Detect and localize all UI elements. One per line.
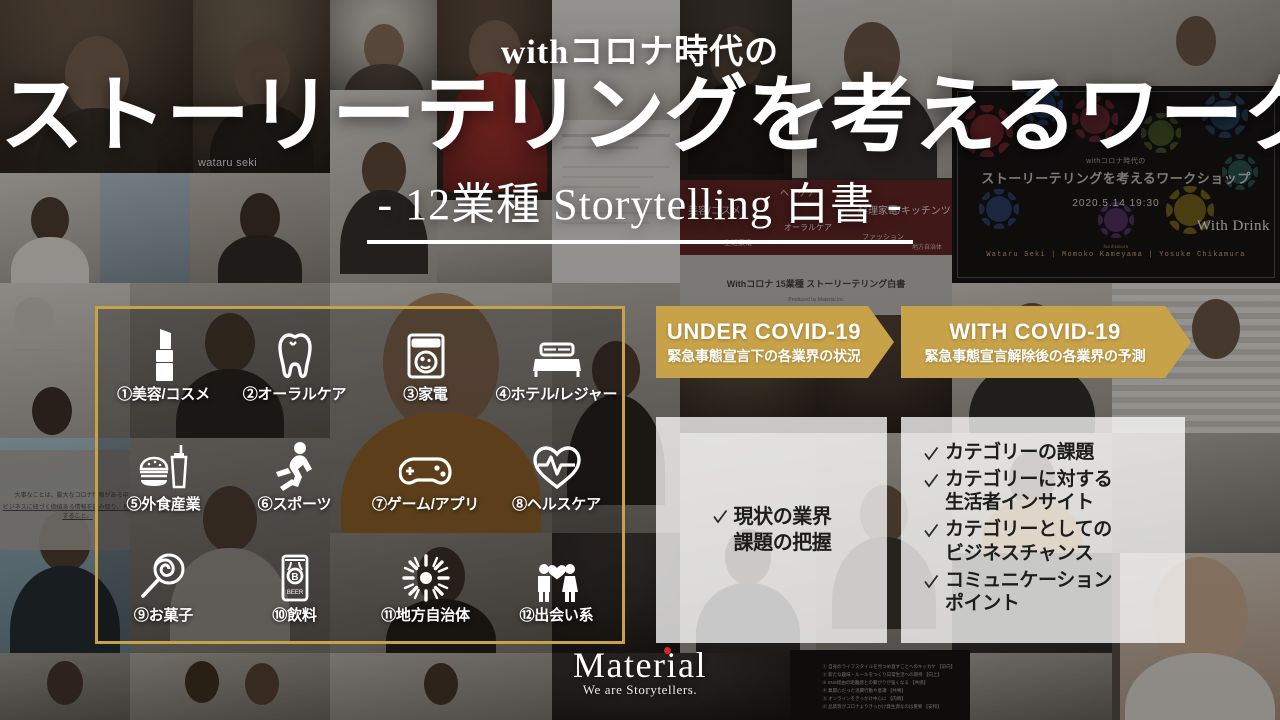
category-grid: ①美容/コスメ ②オーラルケア xyxy=(98,309,622,641)
checklist-item: コミュニケーション ポイント xyxy=(923,569,1185,617)
heart-pulse-icon xyxy=(532,435,582,491)
gamepad-icon xyxy=(399,435,453,491)
lollipop-icon xyxy=(139,546,189,602)
slide-produced-by: Produced by Material Inc xyxy=(680,297,952,303)
checklist-line: ビジネスチャンス xyxy=(945,543,1093,564)
category-item-sports[interactable]: ⑥スポーツ xyxy=(229,420,360,531)
lipstick-icon xyxy=(147,325,181,381)
banner-with-covid-19[interactable]: WITH COVID-19 緊急事態宣言解除後の各業界の予測 xyxy=(901,306,1191,378)
category-label: ⑤外食産業 xyxy=(126,493,200,514)
beer-can-icon: B BEER xyxy=(277,546,313,602)
category-item-healthcare[interactable]: ⑧ヘルスケア xyxy=(491,420,622,531)
bed-icon xyxy=(531,325,583,381)
burger-drink-icon xyxy=(138,435,190,491)
brand-logo: Material We are Storytellers. xyxy=(0,644,1280,698)
runner-icon xyxy=(272,435,318,491)
title-block: withコロナ時代の ストーリーテリングを考えるワークショップ - 12業種 S… xyxy=(0,0,1280,244)
category-item-beauty-cosme[interactable]: ①美容/コスメ xyxy=(98,309,229,420)
checklist-item: カテゴリーの課題 xyxy=(923,441,1185,465)
subtitle-underline-wrap: - 12業種 Storytelling 白書 - xyxy=(367,168,912,244)
check-icon xyxy=(712,509,728,525)
category-item-dating[interactable]: ⑫出会い系 xyxy=(491,530,622,641)
category-item-hotel-leisure[interactable]: ④ホテル/レジャー xyxy=(491,309,622,420)
svg-text:BEER: BEER xyxy=(286,590,303,596)
category-label: ⑦ゲーム/アプリ xyxy=(372,493,479,514)
slide-bullet: ⑥ 品質等がコロナよりきっかけ発生源なのは重要 【安和】 xyxy=(822,704,941,710)
page-title: ストーリーテリングを考えるワークショップ xyxy=(0,75,1280,156)
category-label: ⑧ヘルスケア xyxy=(512,493,601,514)
category-label: ⑪地方自治体 xyxy=(381,604,470,625)
checklist-item: カテゴリーに対する 生活者インサイト xyxy=(923,468,1185,516)
checklist-item: 現状の業界 課題の把握 xyxy=(712,504,832,556)
category-item-game-app[interactable]: ⑦ゲーム/アプリ xyxy=(360,420,491,531)
checklist-line: 生活者インサイト xyxy=(945,492,1094,513)
category-item-oral-care[interactable]: ②オーラルケア xyxy=(229,309,360,420)
banner-subtitle: 緊急事態宣言下の各業界の状況 xyxy=(667,346,860,366)
checklist-line: ポイント xyxy=(945,593,1019,614)
slide-caption: Withコロナ 15業種 ストーリーテリング白書 xyxy=(680,277,952,290)
category-item-local-government[interactable]: ⑪地方自治体 xyxy=(360,530,491,641)
panel-current-issues: 現状の業界 課題の把握 xyxy=(656,417,887,643)
category-label: ⑥スポーツ xyxy=(258,493,332,514)
category-item-beverage[interactable]: B BEER ⑩飲料 xyxy=(229,530,360,641)
category-label: ②オーラルケア xyxy=(243,383,347,404)
check-icon xyxy=(923,446,939,462)
banner-subtitle: 緊急事態宣言解除後の各業界の予測 xyxy=(925,346,1146,366)
checklist-text: カテゴリーの課題 xyxy=(945,441,1094,465)
checklist-line: コミュニケーション xyxy=(945,570,1112,591)
checklist-line: カテゴリーに対する xyxy=(945,469,1112,490)
checklist-text: カテゴリーに対する 生活者インサイト xyxy=(945,468,1112,516)
category-grid-panel: ①美容/コスメ ②オーラルケア xyxy=(95,306,625,644)
checklist-text: コミュニケーション ポイント xyxy=(945,569,1112,617)
category-label: ③家電 xyxy=(403,383,447,404)
brand-name: Material xyxy=(573,644,707,686)
check-icon xyxy=(923,523,939,539)
checklist-line: 課題の把握 xyxy=(734,532,832,554)
washing-machine-icon xyxy=(404,325,448,381)
category-label: ⑫出会い系 xyxy=(519,604,593,625)
banner-title: WITH COVID-19 xyxy=(949,319,1121,345)
checklist-line: カテゴリーの課題 xyxy=(945,442,1094,463)
brand-name-text: Material xyxy=(573,645,707,685)
category-label: ④ホテル/レジャー xyxy=(496,383,618,404)
page-subtitle: - 12業種 Storytelling 白書 - xyxy=(377,168,902,232)
svg-text:B: B xyxy=(291,572,298,583)
logo-dot-icon xyxy=(664,647,671,654)
panel-deliverables: カテゴリーの課題 カテゴリーに対する 生活者インサイト カテゴリーとしての ビジ… xyxy=(901,417,1185,643)
category-item-home-appliance[interactable]: ③家電 xyxy=(360,309,491,420)
banner-title: UNDER COVID-19 xyxy=(667,319,861,345)
check-icon xyxy=(923,473,939,489)
couple-heart-icon xyxy=(533,546,581,602)
checklist-item: カテゴリーとしての ビジネスチャンス xyxy=(923,518,1185,566)
category-label: ⑩飲料 xyxy=(272,604,316,625)
tooth-icon xyxy=(273,325,317,381)
category-label: ①美容/コスメ xyxy=(117,383,210,404)
workshop-title-slide: wataru seki xyxy=(0,0,1280,720)
checklist-text: カテゴリーとしての ビジネスチャンス xyxy=(945,518,1112,566)
banner-under-covid-19[interactable]: UNDER COVID-19 緊急事態宣言下の各業界の状況 xyxy=(656,306,894,378)
firework-icon xyxy=(401,546,451,602)
category-item-sweets[interactable]: ⑨お菓子 xyxy=(98,530,229,641)
checklist-line: カテゴリーとしての xyxy=(945,519,1112,540)
checklist-text: 現状の業界 課題の把握 xyxy=(734,504,832,556)
category-item-food-service[interactable]: ⑤外食産業 xyxy=(98,420,229,531)
checklist-line: 現状の業界 xyxy=(734,506,832,528)
check-icon xyxy=(923,574,939,590)
category-label: ⑨お菓子 xyxy=(134,604,193,625)
